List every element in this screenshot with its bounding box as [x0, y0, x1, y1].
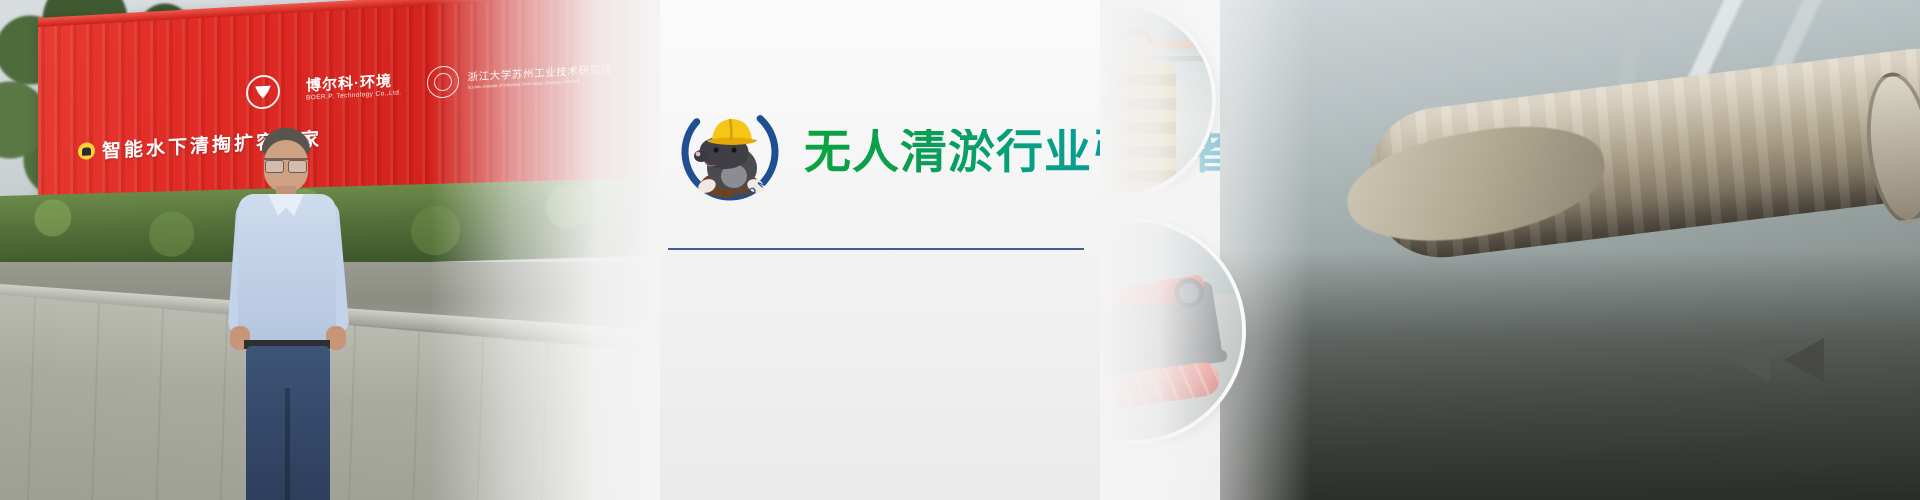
pipe-arrow-secondary — [1730, 338, 1770, 382]
center-block: MUD MOLE 无人清淤行业引领者 — [660, 0, 1100, 500]
helmet-badge-icon — [78, 142, 95, 160]
pipe-arrow-primary — [1784, 338, 1824, 382]
mud-mole-logo-svg: MUD MOLE — [674, 96, 786, 208]
right-photo-fade — [1100, 0, 1310, 500]
boerp-emblem-icon — [246, 74, 280, 110]
left-photo: 博尔科·环境 BOER.P. Technology Co.,Ltd. 浙江大学苏… — [0, 0, 660, 500]
boerp-brand-text: 博尔科·环境 BOER.P. Technology Co.,Ltd. — [306, 72, 401, 102]
glasses-icon — [264, 158, 308, 169]
mud-mole-logo: MUD MOLE — [674, 96, 786, 208]
person-pants — [246, 346, 330, 500]
person-standing — [228, 128, 348, 500]
sludge-discharge-pipe-photo — [1220, 0, 1920, 500]
logo-mole-nose — [696, 152, 701, 157]
logo-hard-hat-ridge — [730, 119, 731, 140]
hero-banner: 博尔科·环境 BOER.P. Technology Co.,Ltd. 浙江大学苏… — [0, 0, 1920, 500]
logo-mole-eye-right — [731, 147, 736, 152]
right-photo-group — [1100, 0, 1920, 500]
left-photo-fade — [430, 0, 660, 500]
person-shirt — [238, 194, 336, 344]
headline-divider — [668, 248, 1084, 250]
logo-mole-snout — [694, 150, 708, 162]
logo-mole-eye-left — [713, 147, 718, 152]
